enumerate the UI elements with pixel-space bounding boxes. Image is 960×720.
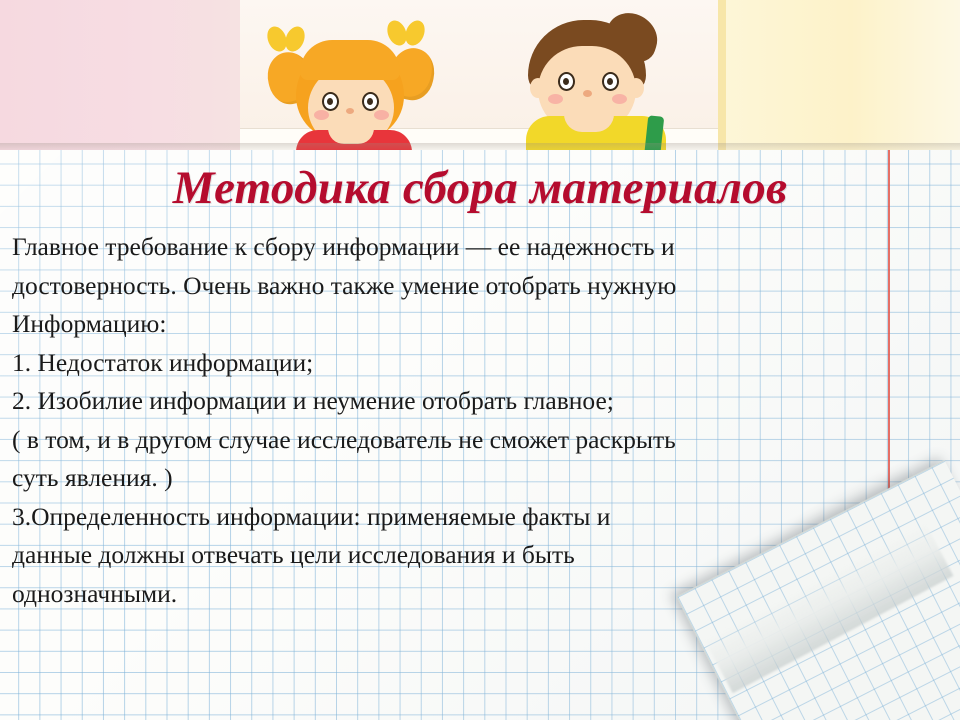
- band-left-pink: [0, 0, 240, 150]
- body-text: Главное требование к сбору информации — …: [12, 228, 892, 613]
- girl-fringe: [300, 40, 400, 80]
- boy-cheek-left: [548, 94, 563, 104]
- body-line: Информацию:: [12, 305, 892, 344]
- girl-cheek-right: [374, 110, 389, 120]
- girl-eye-right: [362, 92, 379, 111]
- girl-hair-bow-right: [388, 20, 424, 46]
- band-bottom-shadow: [0, 143, 960, 150]
- page-title: Методика сбора материалов: [0, 160, 960, 216]
- slide: Методика сбора материалов Главное требов…: [0, 0, 960, 720]
- band-right-edge-strip: [718, 0, 726, 150]
- band-right-yellow: [718, 0, 960, 150]
- body-line: однозначными.: [12, 575, 892, 614]
- boy-eye-left: [558, 72, 575, 91]
- girl-cheek-left: [314, 110, 329, 120]
- body-line: суть явления. ): [12, 459, 892, 498]
- boy-eye-right: [602, 72, 619, 91]
- girl-hair-bow-left: [268, 26, 304, 52]
- body-line: 1. Недостаток информации;: [12, 344, 892, 383]
- boy-character: [498, 8, 708, 150]
- girl-character: [262, 18, 462, 150]
- body-line: достоверность. Очень важно также умение …: [12, 267, 892, 306]
- body-line: Главное требование к сбору информации — …: [12, 228, 892, 267]
- body-line: данные должны отвечать цели исследования…: [12, 536, 892, 575]
- body-line: ( в том, и в другом случае исследователь…: [12, 421, 892, 460]
- body-line: 3.Определенность информации: применяемые…: [12, 498, 892, 537]
- girl-eye-left: [322, 92, 339, 111]
- header-photo-band: [0, 0, 960, 150]
- body-line: 2. Изобилие информации и неумение отобра…: [12, 382, 892, 421]
